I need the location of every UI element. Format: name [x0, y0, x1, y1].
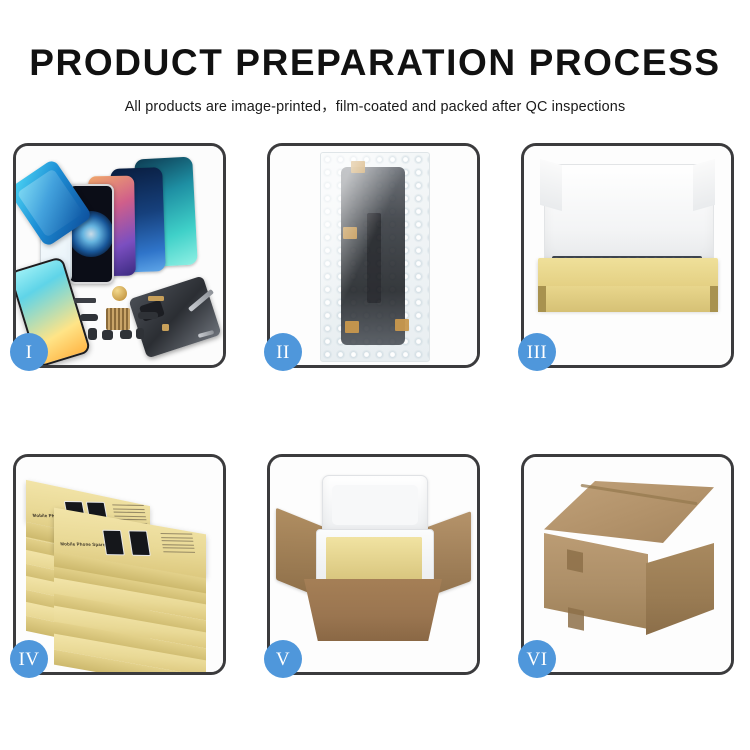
box-stack-icon: Mobile Phone Spare Parts Mobile Phone Sp…	[24, 471, 222, 659]
box-label-specs-front	[161, 533, 196, 555]
small-part-c-icon	[120, 330, 132, 339]
process-steps-grid: I II	[13, 143, 735, 676]
flex-cable-icon	[74, 298, 96, 303]
box-label-screen-a-front	[102, 530, 125, 556]
product-preparation-infographic: PRODUCT PREPARATION PROCESS All products…	[0, 0, 750, 750]
step-panel-3[interactable]: III	[521, 143, 734, 368]
lid-flap-right-icon	[693, 159, 715, 211]
page-subtitle: All products are image-printed，film-coat…	[0, 81, 750, 116]
carton-body-icon	[304, 579, 442, 641]
box-corner-left-icon	[538, 286, 546, 312]
small-part-b-icon	[102, 330, 113, 340]
foam-lid-icon	[322, 475, 428, 535]
screw-tray-icon	[106, 308, 130, 330]
speaker-part-icon	[112, 286, 127, 301]
box-corner-right-icon	[710, 286, 718, 312]
carton-front-face-icon	[544, 533, 648, 629]
camera-module-icon	[138, 312, 158, 319]
yellow-boxes-inside-icon	[326, 537, 422, 581]
step-image-parts-overview	[16, 146, 223, 365]
step-panel-2[interactable]: II	[267, 143, 480, 368]
step-badge-6: VI	[518, 640, 556, 678]
kraft-box-front-icon	[538, 286, 718, 312]
step-image-boxes-stacked: Mobile Phone Spare Parts Mobile Phone Sp…	[16, 457, 223, 672]
bag-sheen	[321, 153, 429, 361]
step-panel-6[interactable]: VI	[521, 454, 734, 675]
carton-tape-top-icon	[567, 549, 583, 572]
carton-side-face-icon	[646, 543, 714, 635]
step-image-sealed-carton	[524, 457, 731, 672]
carton-top-face-icon	[544, 481, 714, 543]
lid-flap-left-icon	[540, 159, 562, 211]
step-badge-2: II	[264, 333, 302, 371]
gold-connector-icon	[148, 296, 164, 301]
step-panel-5[interactable]: V	[267, 454, 480, 675]
step-badge-5: V	[264, 640, 302, 678]
step-image-bubble-wrapped-screen	[270, 146, 477, 365]
step-panel-4[interactable]: Mobile Phone Spare Parts Mobile Phone Sp…	[13, 454, 226, 675]
carton-tape-bottom-icon	[568, 607, 584, 630]
header: PRODUCT PREPARATION PROCESS All products…	[0, 0, 750, 116]
small-part-d-icon	[136, 328, 144, 339]
white-box-lid-icon	[544, 164, 714, 266]
screw-icon	[162, 324, 169, 331]
step-badge-1: I	[10, 333, 48, 371]
small-part-a-icon	[88, 328, 97, 340]
step-panel-1[interactable]: I	[13, 143, 226, 368]
step-image-foam-carton-packing	[270, 457, 477, 672]
step-badge-4: IV	[10, 640, 48, 678]
page-title: PRODUCT PREPARATION PROCESS	[0, 0, 750, 81]
step-image-single-box-packing	[524, 146, 731, 365]
step-badge-3: III	[518, 333, 556, 371]
ribbon-cable-icon	[80, 314, 98, 321]
bubble-wrap-bag-icon	[320, 152, 430, 362]
box-label-screen-b-front	[128, 530, 151, 556]
